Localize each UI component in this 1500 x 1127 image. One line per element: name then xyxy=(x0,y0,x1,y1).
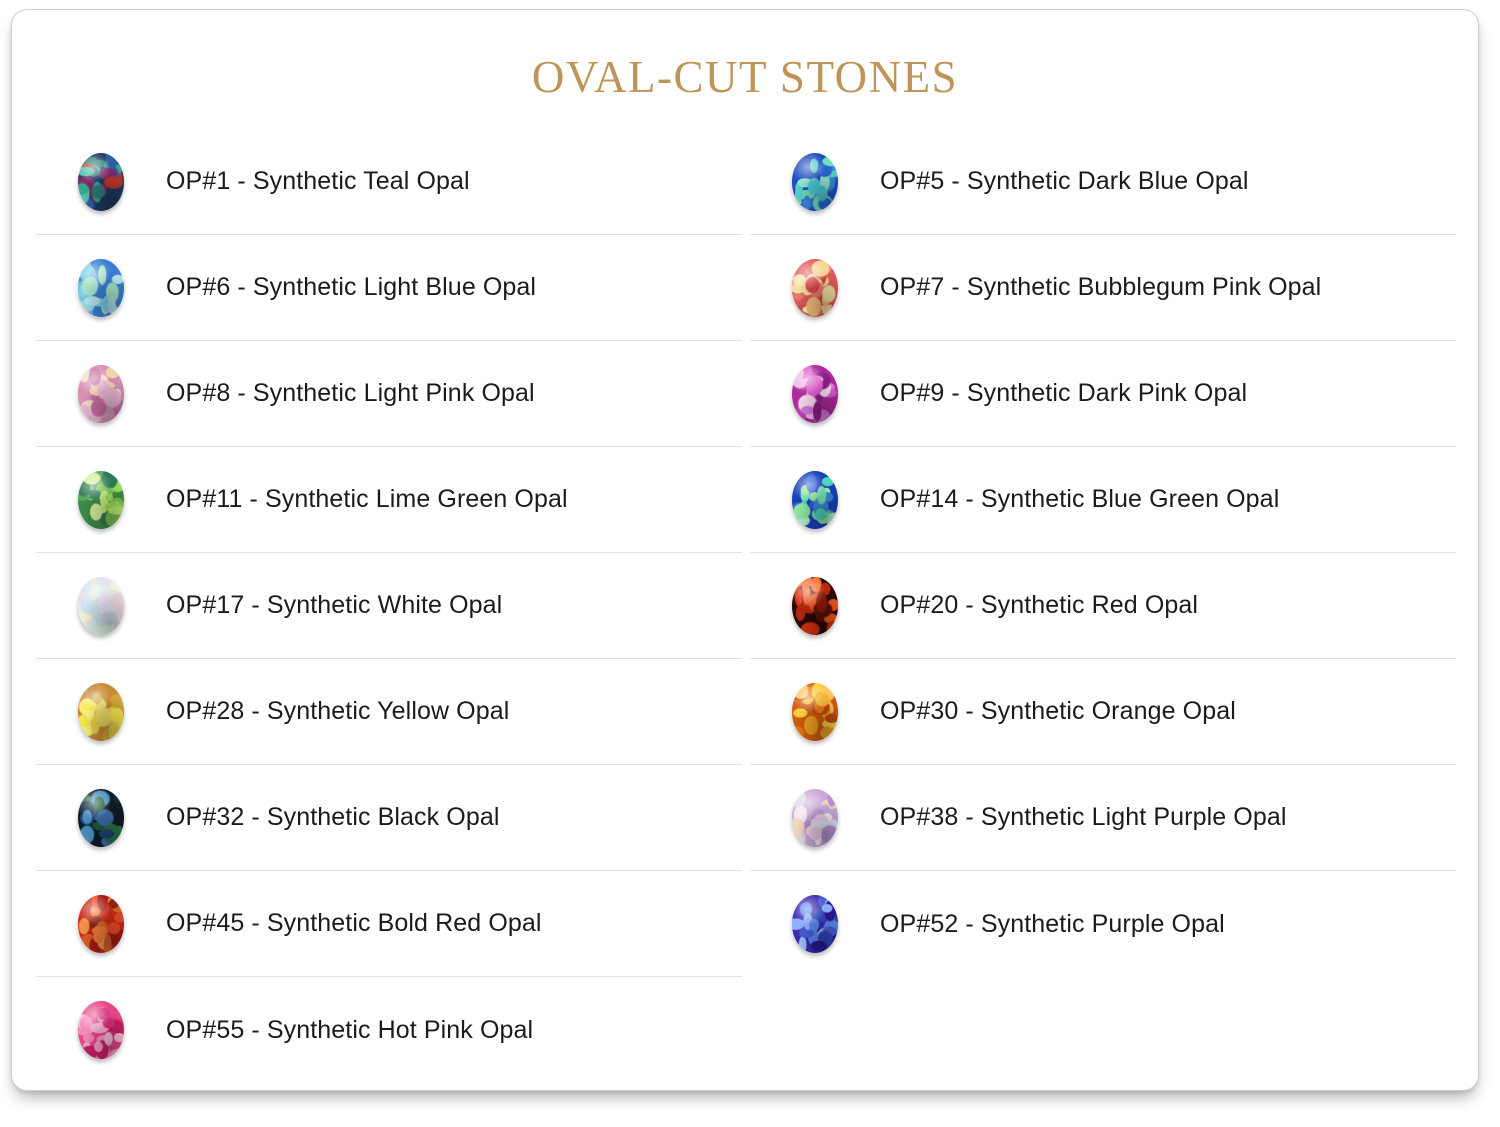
stone-thumbnail[interactable] xyxy=(750,259,880,317)
list-item[interactable]: OP#8 - Synthetic Light Pink Opal xyxy=(36,341,742,447)
stone-thumbnail[interactable] xyxy=(36,259,166,317)
oval-gem-icon xyxy=(78,471,124,529)
stone-label: OP#55 - Synthetic Hot Pink Opal xyxy=(166,1016,533,1045)
stones-card: OVAL-CUT STONES OP#1 - Synthetic Teal Op… xyxy=(11,9,1479,1091)
stone-label: OP#52 - Synthetic Purple Opal xyxy=(880,910,1225,939)
stone-label: OP#14 - Synthetic Blue Green Opal xyxy=(880,485,1279,514)
stone-label: OP#8 - Synthetic Light Pink Opal xyxy=(166,379,535,408)
stone-thumbnail[interactable] xyxy=(36,471,166,529)
stone-thumbnail[interactable] xyxy=(750,471,880,529)
stone-label: OP#32 - Synthetic Black Opal xyxy=(166,803,500,832)
empty-slot xyxy=(750,977,1456,1083)
list-item[interactable]: OP#38 - Synthetic Light Purple Opal xyxy=(750,765,1456,871)
page-title: OVAL-CUT STONES xyxy=(12,10,1478,103)
oval-gem-icon xyxy=(78,365,124,423)
stone-thumbnail[interactable] xyxy=(36,153,166,211)
list-item[interactable]: OP#5 - Synthetic Dark Blue Opal xyxy=(750,129,1456,235)
stone-label: OP#5 - Synthetic Dark Blue Opal xyxy=(880,167,1249,196)
stone-thumbnail[interactable] xyxy=(750,789,880,847)
list-item[interactable]: OP#9 - Synthetic Dark Pink Opal xyxy=(750,341,1456,447)
stone-thumbnail[interactable] xyxy=(750,683,880,741)
left-column: OP#1 - Synthetic Teal Opal OP#6 - Synthe… xyxy=(36,129,742,1083)
oval-gem-icon xyxy=(792,259,838,317)
list-item[interactable]: OP#11 - Synthetic Lime Green Opal xyxy=(36,447,742,553)
oval-gem-icon xyxy=(792,153,838,211)
list-item[interactable]: OP#32 - Synthetic Black Opal xyxy=(36,765,742,871)
stone-label: OP#17 - Synthetic White Opal xyxy=(166,591,502,620)
stone-thumbnail[interactable] xyxy=(750,365,880,423)
oval-gem-icon xyxy=(78,577,124,635)
stone-thumbnail[interactable] xyxy=(36,895,166,953)
stone-label: OP#1 - Synthetic Teal Opal xyxy=(166,167,470,196)
list-item[interactable]: OP#7 - Synthetic Bubblegum Pink Opal xyxy=(750,235,1456,341)
stone-thumbnail[interactable] xyxy=(36,577,166,635)
oval-gem-icon xyxy=(78,789,124,847)
oval-gem-icon xyxy=(78,153,124,211)
oval-gem-icon xyxy=(792,683,838,741)
list-item[interactable]: OP#6 - Synthetic Light Blue Opal xyxy=(36,235,742,341)
stone-thumbnail[interactable] xyxy=(36,1001,166,1059)
list-item[interactable]: OP#55 - Synthetic Hot Pink Opal xyxy=(36,977,742,1083)
stone-label: OP#38 - Synthetic Light Purple Opal xyxy=(880,803,1287,832)
list-item[interactable]: OP#45 - Synthetic Bold Red Opal xyxy=(36,871,742,977)
oval-gem-icon xyxy=(792,895,838,953)
stone-thumbnail[interactable] xyxy=(36,683,166,741)
stones-grid: OP#1 - Synthetic Teal Opal OP#6 - Synthe… xyxy=(36,129,1456,1083)
oval-gem-icon xyxy=(78,259,124,317)
stone-label: OP#7 - Synthetic Bubblegum Pink Opal xyxy=(880,273,1321,302)
list-item[interactable]: OP#28 - Synthetic Yellow Opal xyxy=(36,659,742,765)
oval-gem-icon xyxy=(792,471,838,529)
stone-label: OP#6 - Synthetic Light Blue Opal xyxy=(166,273,536,302)
stone-thumbnail[interactable] xyxy=(750,577,880,635)
oval-gem-icon xyxy=(78,895,124,953)
stone-label: OP#9 - Synthetic Dark Pink Opal xyxy=(880,379,1247,408)
list-item[interactable]: OP#20 - Synthetic Red Opal xyxy=(750,553,1456,659)
oval-gem-icon xyxy=(792,577,838,635)
right-column: OP#5 - Synthetic Dark Blue Opal OP#7 - S… xyxy=(750,129,1456,1083)
stone-thumbnail[interactable] xyxy=(36,789,166,847)
list-item[interactable]: OP#52 - Synthetic Purple Opal xyxy=(750,871,1456,977)
oval-gem-icon xyxy=(78,1001,124,1059)
oval-gem-icon xyxy=(792,789,838,847)
stone-label: OP#30 - Synthetic Orange Opal xyxy=(880,697,1236,726)
stone-label: OP#20 - Synthetic Red Opal xyxy=(880,591,1198,620)
stone-thumbnail[interactable] xyxy=(750,895,880,953)
list-item[interactable]: OP#30 - Synthetic Orange Opal xyxy=(750,659,1456,765)
list-item[interactable]: OP#1 - Synthetic Teal Opal xyxy=(36,129,742,235)
oval-gem-icon xyxy=(792,365,838,423)
stone-thumbnail[interactable] xyxy=(36,365,166,423)
list-item[interactable]: OP#17 - Synthetic White Opal xyxy=(36,553,742,659)
stone-label: OP#11 - Synthetic Lime Green Opal xyxy=(166,485,568,514)
stone-label: OP#45 - Synthetic Bold Red Opal xyxy=(166,909,542,938)
list-item[interactable]: OP#14 - Synthetic Blue Green Opal xyxy=(750,447,1456,553)
oval-gem-icon xyxy=(78,683,124,741)
stone-thumbnail[interactable] xyxy=(750,153,880,211)
stone-label: OP#28 - Synthetic Yellow Opal xyxy=(166,697,509,726)
